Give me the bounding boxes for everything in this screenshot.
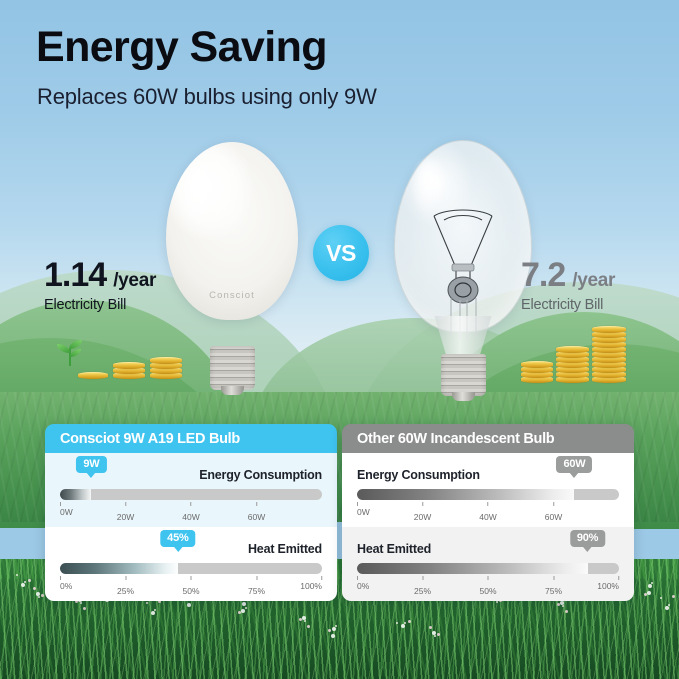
leaf-sprout-icon xyxy=(57,340,83,366)
metric-row: Energy Consumption60W0W20W40W60W xyxy=(342,453,634,527)
metric-bar-track xyxy=(357,489,619,500)
axis-tick: 0% xyxy=(357,576,369,591)
axis-tick: 50% xyxy=(479,576,496,599)
metric-value-badge: 9W xyxy=(76,456,106,473)
axis-tick: 0W xyxy=(357,502,370,517)
axis-tick: 0% xyxy=(60,576,72,591)
coin xyxy=(521,361,553,368)
coin xyxy=(556,346,589,353)
axis-tick: 20W xyxy=(414,502,431,525)
axis-tick: 60W xyxy=(248,502,265,525)
metric-bar-fill xyxy=(60,489,91,500)
panel-led: Consciot 9W A19 LED BulbEnergy Consumpti… xyxy=(45,424,337,601)
panel-title: Other 60W Incandescent Bulb xyxy=(342,424,634,453)
axis-tick: 40W xyxy=(479,502,496,525)
metric-bar-fill xyxy=(357,489,574,500)
metric-value-badge: 45% xyxy=(160,530,195,547)
metric-bar-track xyxy=(60,563,322,574)
metric-row: Heat Emitted90%0%25%50%75%100% xyxy=(342,527,634,601)
axis-tick: 75% xyxy=(545,576,562,599)
axis-tick: 25% xyxy=(117,576,134,599)
axis-tick: 100% xyxy=(300,576,322,591)
panel-title: Consciot 9W A19 LED Bulb xyxy=(45,424,337,453)
axis-tick: 20W xyxy=(117,502,134,525)
metric-value-badge: 90% xyxy=(570,530,605,547)
metric-value-badge: 60W xyxy=(556,456,592,473)
metric-bar-fill xyxy=(60,563,178,574)
infographic-stage: Energy Saving Replaces 60W bulbs using o… xyxy=(0,0,679,679)
axis-tick: 60W xyxy=(545,502,562,525)
metric-bar-fill xyxy=(357,563,588,574)
metric-bar-track xyxy=(357,563,619,574)
axis-tick: 0W xyxy=(60,502,73,517)
axis-tick: 75% xyxy=(248,576,265,599)
metric-row: Energy Consumption9W0W20W40W60W xyxy=(45,453,337,527)
metric-bar-track xyxy=(60,489,322,500)
metric-axis-ticks: 0%25%50%75%100% xyxy=(60,576,322,592)
metric-axis-ticks: 0W20W40W60W xyxy=(357,502,619,518)
metric-axis-ticks: 0W20W40W60W xyxy=(60,502,322,518)
axis-tick: 25% xyxy=(414,576,431,599)
axis-tick: 100% xyxy=(597,576,619,591)
metric-row: Heat Emitted45%0%25%50%75%100% xyxy=(45,527,337,601)
axis-tick: 40W xyxy=(182,502,199,525)
metric-axis-ticks: 0%25%50%75%100% xyxy=(357,576,619,592)
panel-incandescent: Other 60W Incandescent BulbEnergy Consum… xyxy=(342,424,634,601)
coin xyxy=(592,326,626,333)
axis-tick: 50% xyxy=(182,576,199,599)
